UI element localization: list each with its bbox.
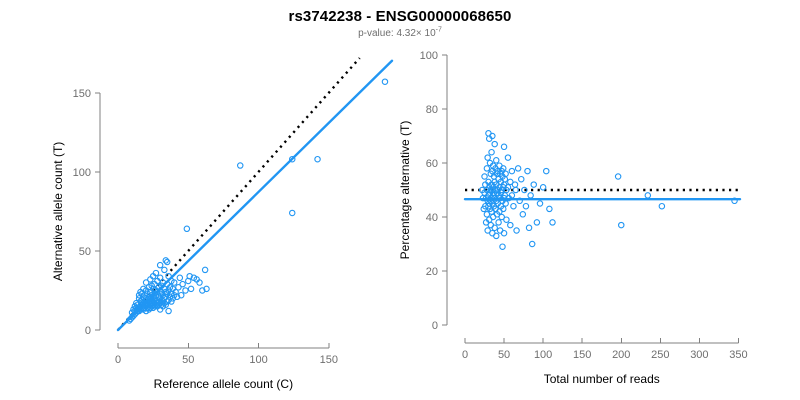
x-tick-label: 50 [498, 349, 510, 361]
y-tick-label: 80 [426, 104, 438, 116]
data-point [534, 220, 539, 225]
x-tick-label: 0 [462, 349, 468, 361]
x-tick-label: 300 [690, 349, 708, 361]
data-point [494, 233, 499, 238]
data-point [501, 231, 506, 236]
data-point [164, 259, 169, 264]
data-point [619, 222, 624, 227]
x-tick-label: 50 [182, 354, 194, 366]
data-point [505, 155, 510, 160]
data-point [492, 141, 497, 146]
data-point [512, 182, 517, 187]
data-point [492, 225, 497, 230]
x-tick-label: 0 [115, 354, 121, 366]
data-point [501, 144, 506, 149]
data-point [544, 168, 549, 173]
data-point [659, 204, 664, 209]
x-tick-label: 150 [573, 349, 591, 361]
data-point [537, 201, 542, 206]
data-point [184, 226, 189, 231]
data-point [163, 258, 168, 263]
data-point [526, 225, 531, 230]
data-point [540, 185, 545, 190]
y-tick-label: 100 [420, 50, 438, 62]
x-tick-label: 250 [651, 349, 669, 361]
data-point [513, 187, 518, 192]
data-point [531, 182, 536, 187]
y-tick-label: 0 [432, 320, 438, 332]
y-axis-title: Alternative allele count (T) [51, 142, 65, 281]
right-plot-svg: 020406080100050100150200250300350Total n… [400, 0, 800, 400]
data-point [529, 241, 534, 246]
data-point [523, 204, 528, 209]
y-tick-label: 150 [73, 88, 91, 100]
data-point [519, 177, 524, 182]
x-axis-title: Total number of reads [544, 372, 660, 386]
data-point-group [127, 79, 388, 323]
data-point [615, 174, 620, 179]
y-tick-label: 20 [426, 266, 438, 278]
y-tick-label: 100 [73, 167, 91, 179]
x-tick-label: 150 [320, 354, 338, 366]
data-point [496, 220, 501, 225]
identity-line [118, 58, 360, 330]
data-point [500, 244, 505, 249]
data-point [382, 79, 387, 84]
x-axis-title: Reference allele count (C) [154, 377, 293, 391]
data-point [238, 163, 243, 168]
data-point [177, 275, 182, 280]
data-point [509, 168, 514, 173]
left-scatter-panel: 050100150050100150Reference allele count… [0, 0, 400, 400]
right-scatter-panel: 020406080100050100150200250300350Total n… [400, 0, 800, 400]
data-point [485, 155, 490, 160]
data-point [504, 217, 509, 222]
y-tick-label: 40 [426, 212, 438, 224]
x-tick-label: 100 [534, 349, 552, 361]
data-point [166, 308, 171, 313]
figure-container: rs3742238 - ENSG00000068650 p-value: 4.3… [0, 0, 800, 400]
data-point [290, 210, 295, 215]
data-point [511, 204, 516, 209]
data-point [645, 193, 650, 198]
x-tick-label: 100 [249, 354, 267, 366]
data-point [482, 174, 487, 179]
y-axis-title: Percentage alternative (T) [400, 121, 412, 260]
y-tick-label: 0 [85, 325, 91, 337]
y-tick-label: 50 [79, 246, 91, 258]
data-point [515, 166, 520, 171]
data-point [489, 150, 494, 155]
data-point [484, 166, 489, 171]
data-point [183, 288, 188, 293]
data-point [528, 193, 533, 198]
data-point [514, 228, 519, 233]
data-point [520, 212, 525, 217]
data-point [180, 281, 185, 286]
data-point [202, 267, 207, 272]
left-plot-svg: 050100150050100150Reference allele count… [0, 0, 400, 400]
data-point [315, 157, 320, 162]
data-point [525, 168, 530, 173]
data-point [547, 206, 552, 211]
data-point [508, 222, 513, 227]
data-point-group [479, 131, 737, 250]
data-point [162, 267, 167, 272]
data-point [188, 286, 193, 291]
x-tick-label: 200 [612, 349, 630, 361]
data-point [157, 262, 162, 267]
data-point [494, 158, 499, 163]
data-point [550, 220, 555, 225]
x-tick-label: 350 [729, 349, 747, 361]
y-tick-label: 60 [426, 158, 438, 170]
